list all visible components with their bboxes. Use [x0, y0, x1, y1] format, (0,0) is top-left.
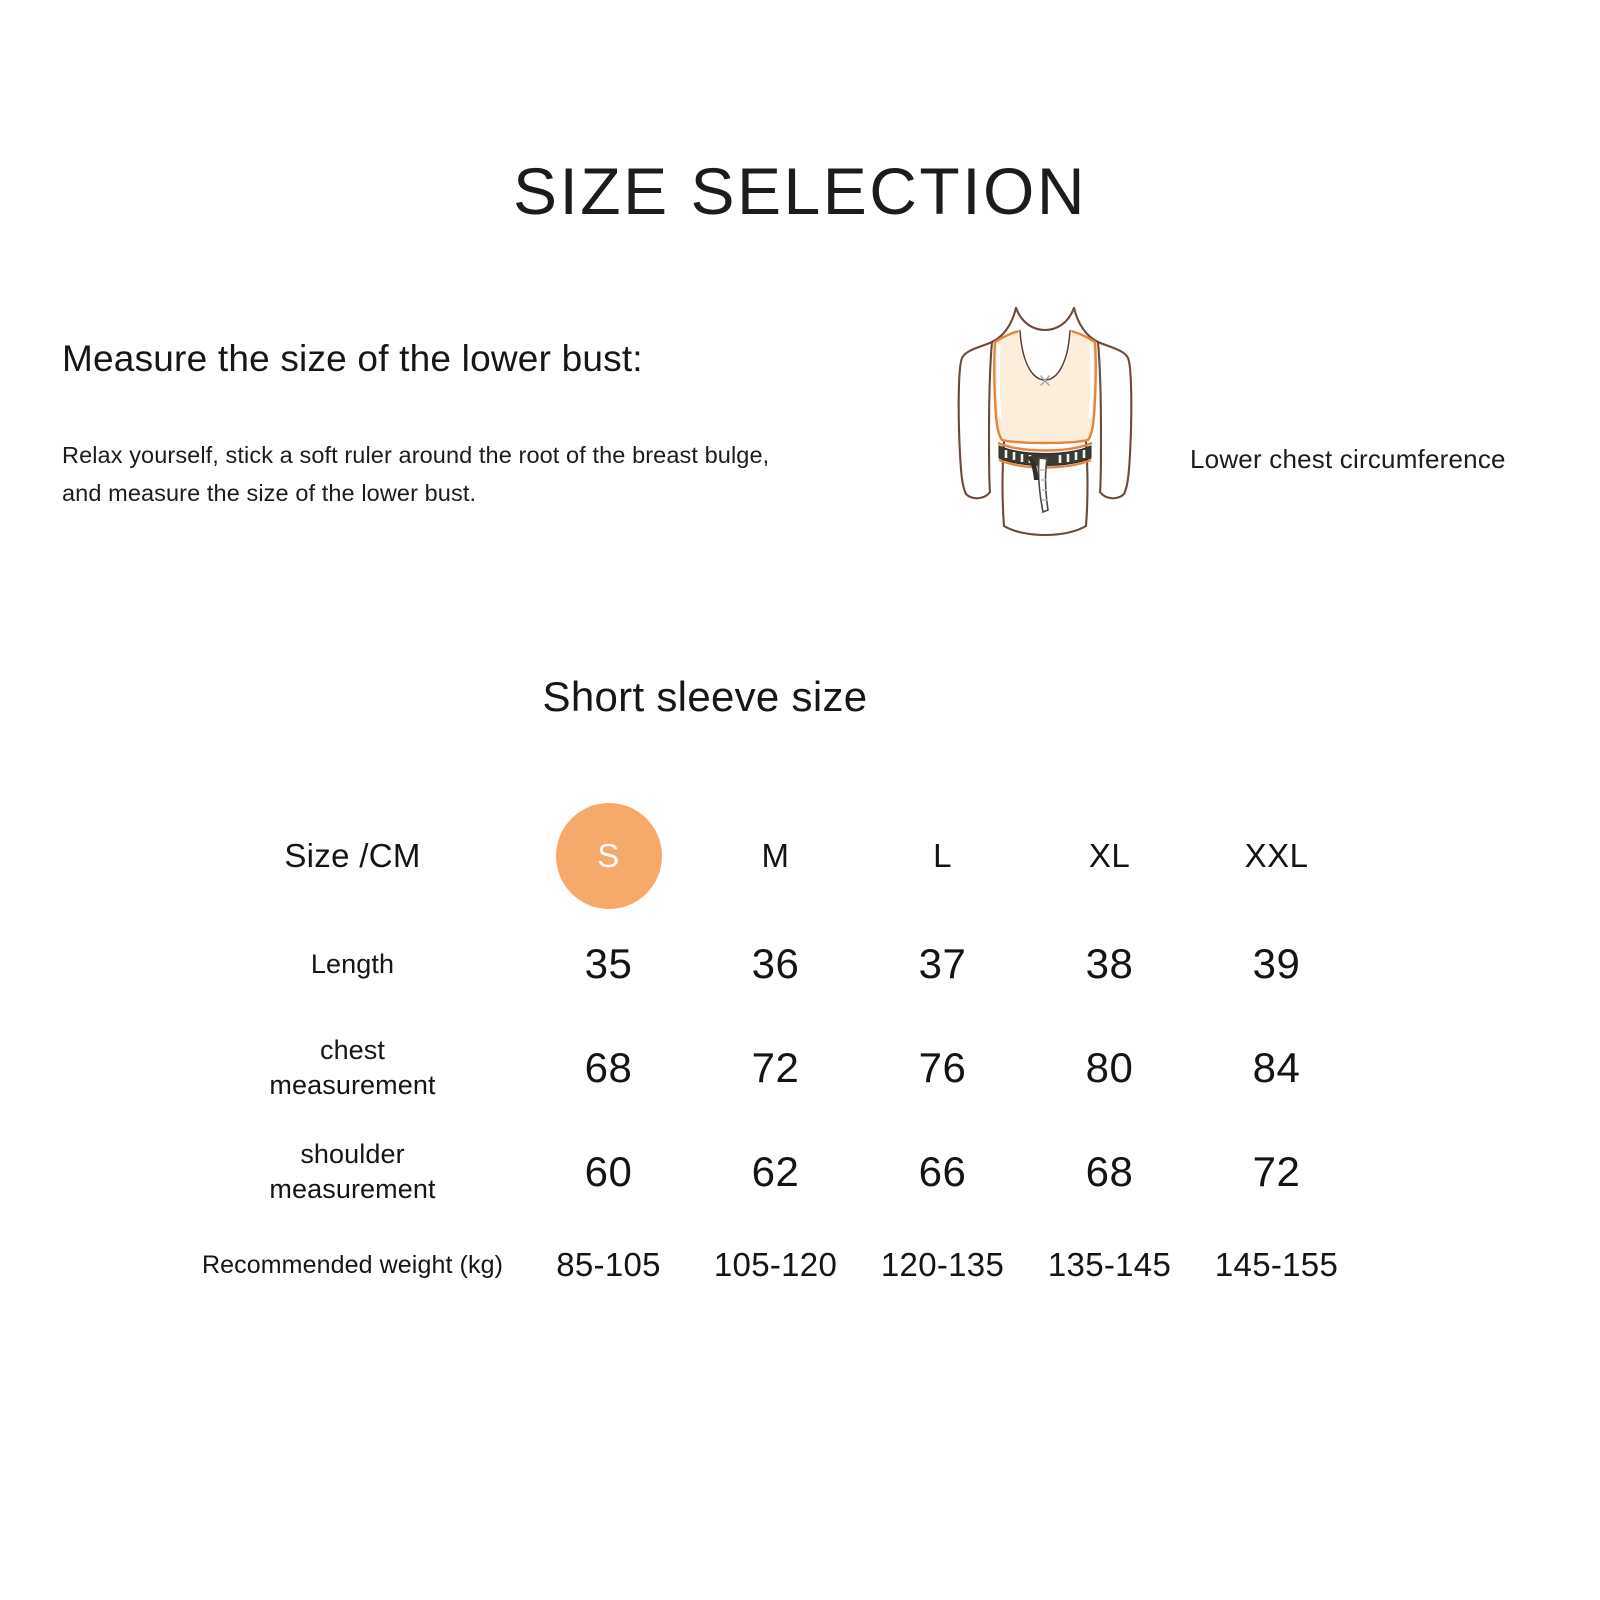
size-header-s[interactable]: S: [525, 800, 692, 912]
measure-description-line-1: Relax yourself, stick a soft ruler aroun…: [62, 436, 862, 474]
row-label-text: Length: [311, 949, 394, 979]
table-heading: Short sleeve size: [0, 673, 1600, 721]
row-label-text: shoulder: [180, 1137, 525, 1172]
cell-length-xl: 38: [1026, 912, 1193, 1016]
measure-description: Relax yourself, stick a soft ruler aroun…: [62, 436, 862, 512]
size-header-m[interactable]: M: [692, 800, 859, 912]
selected-size-chip[interactable]: S: [556, 803, 662, 909]
row-label-chest: chest measurement: [180, 1016, 525, 1120]
size-header-l[interactable]: L: [859, 800, 1026, 912]
size-chart-page: SIZE SELECTION Measure the size of the l…: [0, 0, 1600, 1600]
size-table-wrapper: Size /CM S M L: [180, 800, 1360, 1306]
measure-description-line-2: and measure the size of the lower bust.: [62, 474, 862, 512]
cell-length-m: 36: [692, 912, 859, 1016]
cell-chest-l: 76: [859, 1016, 1026, 1120]
cell-shoulder-s: 60: [525, 1120, 692, 1224]
cell-weight-xxl: 145-155: [1193, 1224, 1360, 1306]
cell-shoulder-l: 66: [859, 1120, 1026, 1224]
cell-length-xxl: 39: [1193, 912, 1360, 1016]
unit-label: Size /CM: [284, 837, 420, 875]
row-label-text: chest: [180, 1033, 525, 1068]
cell-shoulder-xxl: 72: [1193, 1120, 1360, 1224]
size-table: Size /CM S M L: [180, 800, 1360, 1306]
table-header-row: Size /CM S M L: [180, 800, 1360, 912]
cell-length-l: 37: [859, 912, 1026, 1016]
measuring-tape: [998, 443, 1092, 512]
size-header-xl[interactable]: XL: [1026, 800, 1193, 912]
page-title: SIZE SELECTION: [0, 158, 1600, 224]
cell-weight-s: 85-105: [525, 1224, 692, 1306]
cell-weight-m: 105-120: [692, 1224, 859, 1306]
cell-weight-xl: 135-145: [1026, 1224, 1193, 1306]
sports-bra-shape: [994, 331, 1095, 443]
measure-heading: Measure the size of the lower bust:: [62, 336, 643, 382]
size-label-xl[interactable]: XL: [1089, 837, 1130, 875]
cell-shoulder-xl: 68: [1026, 1120, 1193, 1224]
illustration-caption: Lower chest circumference: [1190, 444, 1506, 475]
torso-illustration-svg: [900, 286, 1190, 556]
row-label-length: Length: [180, 912, 525, 1016]
cell-chest-m: 72: [692, 1016, 859, 1120]
row-label-text: Recommended weight (kg): [202, 1251, 503, 1279]
table-row: chest measurement 68 72 76 80 84: [180, 1016, 1360, 1120]
size-label-xxl[interactable]: XXL: [1245, 837, 1309, 875]
cell-shoulder-m: 62: [692, 1120, 859, 1224]
cell-chest-xxl: 84: [1193, 1016, 1360, 1120]
size-label-m[interactable]: M: [762, 837, 790, 875]
unit-label-cell: Size /CM: [180, 800, 525, 912]
row-label-text-2: measurement: [180, 1172, 525, 1207]
table-row: Recommended weight (kg) 85-105 105-120 1…: [180, 1224, 1360, 1306]
row-label-shoulder: shoulder measurement: [180, 1120, 525, 1224]
cell-chest-xl: 80: [1026, 1016, 1193, 1120]
row-label-recommended-weight: Recommended weight (kg): [180, 1224, 525, 1306]
cell-weight-l: 120-135: [859, 1224, 1026, 1306]
size-header-xxl[interactable]: XXL: [1193, 800, 1360, 912]
cell-chest-s: 68: [525, 1016, 692, 1120]
torso-measurement-illustration: [900, 286, 1190, 556]
cell-length-s: 35: [525, 912, 692, 1016]
row-label-text-2: measurement: [180, 1068, 525, 1103]
size-label-l[interactable]: L: [933, 837, 952, 875]
table-row: shoulder measurement 60 62 66 68 72: [180, 1120, 1360, 1224]
table-row: Length 35 36 37 38 39: [180, 912, 1360, 1016]
